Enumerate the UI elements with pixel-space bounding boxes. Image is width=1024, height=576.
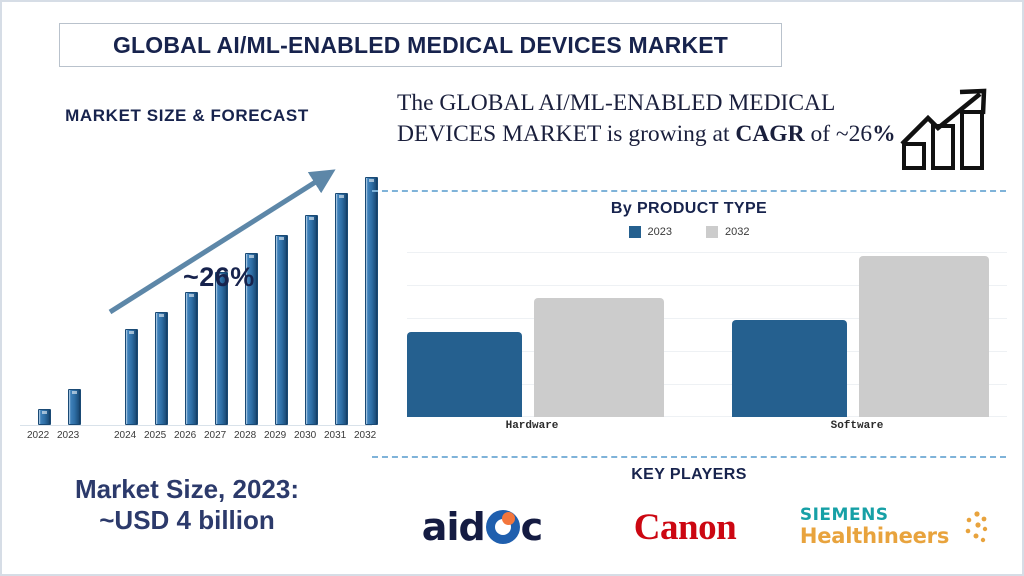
product-type-bar [407, 332, 522, 417]
cagr-headline: The GLOBAL AI/ML-ENABLED MEDICAL DEVICES… [397, 88, 897, 150]
product-type-heading: By PRODUCT TYPE [372, 200, 1006, 218]
logo-canon: Canon [590, 492, 780, 562]
forecast-year-label: 2029 [264, 430, 286, 441]
forecast-bar [68, 389, 81, 425]
forecast-bar [305, 215, 318, 425]
forecast-bar [215, 272, 228, 425]
legend-label: 2032 [725, 226, 749, 238]
product-type-bar [732, 320, 847, 417]
legend-item: 2023 [629, 226, 672, 238]
product-type-bar [859, 256, 989, 417]
divider-top [372, 190, 1006, 192]
market-size-forecast-heading: MARKET SIZE & FORECAST [2, 106, 372, 126]
legend-item: 2032 [706, 226, 749, 238]
headline-percent: % [872, 121, 896, 147]
growth-bar-chart-arrow-icon [894, 86, 1004, 172]
logo-aidoc: aidc [382, 492, 582, 562]
aidoc-circle-icon [486, 510, 520, 544]
product-type-legend: 20232032 [372, 226, 1006, 238]
key-players-logos: aidc Canon SIEMENS Healthineers [372, 492, 1006, 562]
product-type-category-label: Software [732, 420, 982, 432]
aidoc-text-head: aid [422, 505, 485, 549]
divider-middle [372, 456, 1006, 458]
forecast-year-label: 2030 [294, 430, 316, 441]
market-size-line-1: Market Size, 2023: [2, 474, 372, 505]
market-size-line-2: ~USD 4 billion [2, 505, 372, 536]
headline-text-2: of ~26 [805, 121, 873, 147]
forecast-year-label: 2031 [324, 430, 346, 441]
title-box: GLOBAL AI/ML-ENABLED MEDICAL DEVICES MAR… [59, 23, 782, 67]
forecast-year-label: 2025 [144, 430, 166, 441]
forecast-year-label: 2024 [114, 430, 136, 441]
forecast-year-label: 2027 [204, 430, 226, 441]
key-players-heading: KEY PLAYERS [372, 466, 1006, 484]
aidoc-text-tail: c [521, 505, 543, 549]
product-type-bar [534, 298, 664, 417]
forecast-bar [275, 235, 288, 425]
market-size-callout: Market Size, 2023: ~USD 4 billion [2, 474, 372, 535]
cagr-badge: ~26% [183, 262, 255, 293]
legend-label: 2023 [648, 226, 672, 238]
forecast-bar [335, 193, 348, 425]
logo-siemens-healthineers: SIEMENS Healthineers [787, 492, 1002, 562]
siemens-text: SIEMENS Healthineers [800, 507, 949, 547]
forecast-bar [38, 409, 51, 425]
siemens-dots-icon [955, 510, 989, 544]
headline-cagr: CAGR [735, 121, 804, 147]
forecast-bar [185, 292, 198, 425]
forecast-year-label: 2028 [234, 430, 256, 441]
siemens-bottom-line: Healthineers [800, 525, 949, 547]
forecast-year-labels: 2022202320242025202620272028202920302031… [2, 426, 372, 446]
forecast-year-label: 2022 [27, 430, 49, 441]
legend-swatch [629, 226, 641, 238]
siemens-healthineers-wordmark: SIEMENS Healthineers [800, 507, 989, 547]
page-title: GLOBAL AI/ML-ENABLED MEDICAL DEVICES MAR… [113, 32, 728, 59]
infographic-page: GLOBAL AI/ML-ENABLED MEDICAL DEVICES MAR… [0, 0, 1024, 576]
aidoc-wordmark: aidc [422, 505, 542, 549]
forecast-bar [125, 329, 138, 425]
siemens-top-line: SIEMENS [800, 507, 949, 525]
legend-swatch [706, 226, 718, 238]
market-size-forecast-panel: MARKET SIZE & FORECAST ~26% 202220232024… [2, 74, 372, 576]
forecast-year-label: 2026 [174, 430, 196, 441]
canon-wordmark: Canon [634, 506, 736, 549]
forecast-year-label: 2023 [57, 430, 79, 441]
forecast-bar [155, 312, 168, 425]
product-type-category-label: Hardware [407, 420, 657, 432]
market-size-forecast-chart: ~26% [20, 154, 372, 426]
gridline [407, 252, 1007, 253]
right-panel: The GLOBAL AI/ML-ENABLED MEDICAL DEVICES… [372, 74, 1024, 576]
product-type-chart: HardwareSoftware [407, 252, 1007, 417]
